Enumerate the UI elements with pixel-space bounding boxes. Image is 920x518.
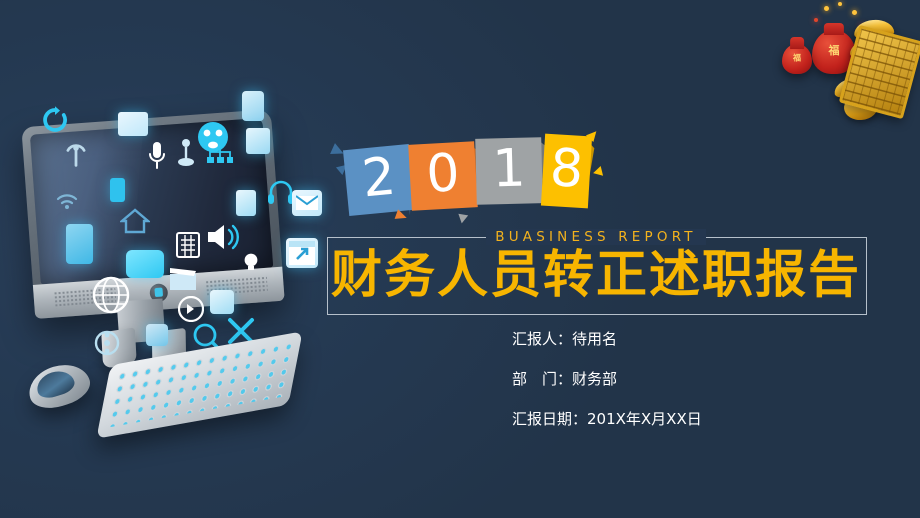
gold-money-decoration: 福 福: [768, 0, 920, 128]
year-digit: 8: [548, 138, 585, 200]
year-digit: 0: [425, 143, 461, 205]
kicker-rule-left: [428, 237, 486, 238]
fu-character: 福: [793, 52, 801, 63]
year-2018-graphic: 2 0 1 8: [336, 131, 636, 227]
year-digit-block-2: 0: [408, 141, 478, 211]
memory-card-icon: [236, 190, 256, 216]
browser-arrow-icon: [286, 238, 318, 268]
year-digit-block-3: 1: [475, 137, 543, 205]
kicker-rule-right: [706, 237, 764, 238]
money-bag-neck: [824, 23, 844, 35]
mouse: [24, 358, 95, 414]
decor-triangle: [592, 166, 603, 178]
money-bag-small: 福: [782, 44, 812, 74]
spark-dot: [838, 2, 842, 6]
smartphone-icon: [110, 178, 125, 202]
kicker-row: BUASINESS REPORT: [327, 227, 865, 247]
handheld-console-icon: [126, 250, 164, 278]
meta-row-presenter: 汇报人：待用名: [512, 332, 862, 347]
feature-phone-icon: [66, 224, 93, 264]
spark-dot: [824, 6, 829, 11]
spark-dot: [852, 10, 857, 15]
page-title: 财务人员转正述职报告: [330, 250, 862, 301]
chart-bars-icon: [246, 128, 270, 154]
year-digit: 2: [359, 147, 398, 210]
decor-triangle: [457, 214, 468, 225]
presentation-slide: 福 福 2 0 1 8: [0, 0, 920, 518]
year-digit-block-4: 8: [541, 134, 592, 209]
meta-block: 汇报人：待用名 部 门：财务部 汇报日期：201X年X月XX日: [512, 332, 862, 452]
money-bag-neck: [790, 37, 804, 49]
fu-character: 福: [829, 42, 840, 58]
year-digit-block-1: 2: [343, 144, 415, 216]
computer-illustration: [0, 0, 360, 518]
year-digit: 1: [492, 139, 527, 200]
speaker-grille-left: [53, 287, 116, 308]
speaker-icon: [242, 91, 264, 121]
camera-icon: [210, 290, 234, 314]
spark-dot: [814, 18, 818, 22]
decor-triangle: [395, 209, 409, 222]
kicker-text: BUASINESS REPORT: [486, 229, 706, 245]
book-icon: [146, 324, 168, 346]
meta-row-department: 部 门：财务部: [512, 372, 862, 387]
meta-row-date: 汇报日期：201X年X月XX日: [512, 412, 862, 427]
envelope-icon: [292, 190, 322, 216]
monitor-icon: [118, 112, 148, 136]
